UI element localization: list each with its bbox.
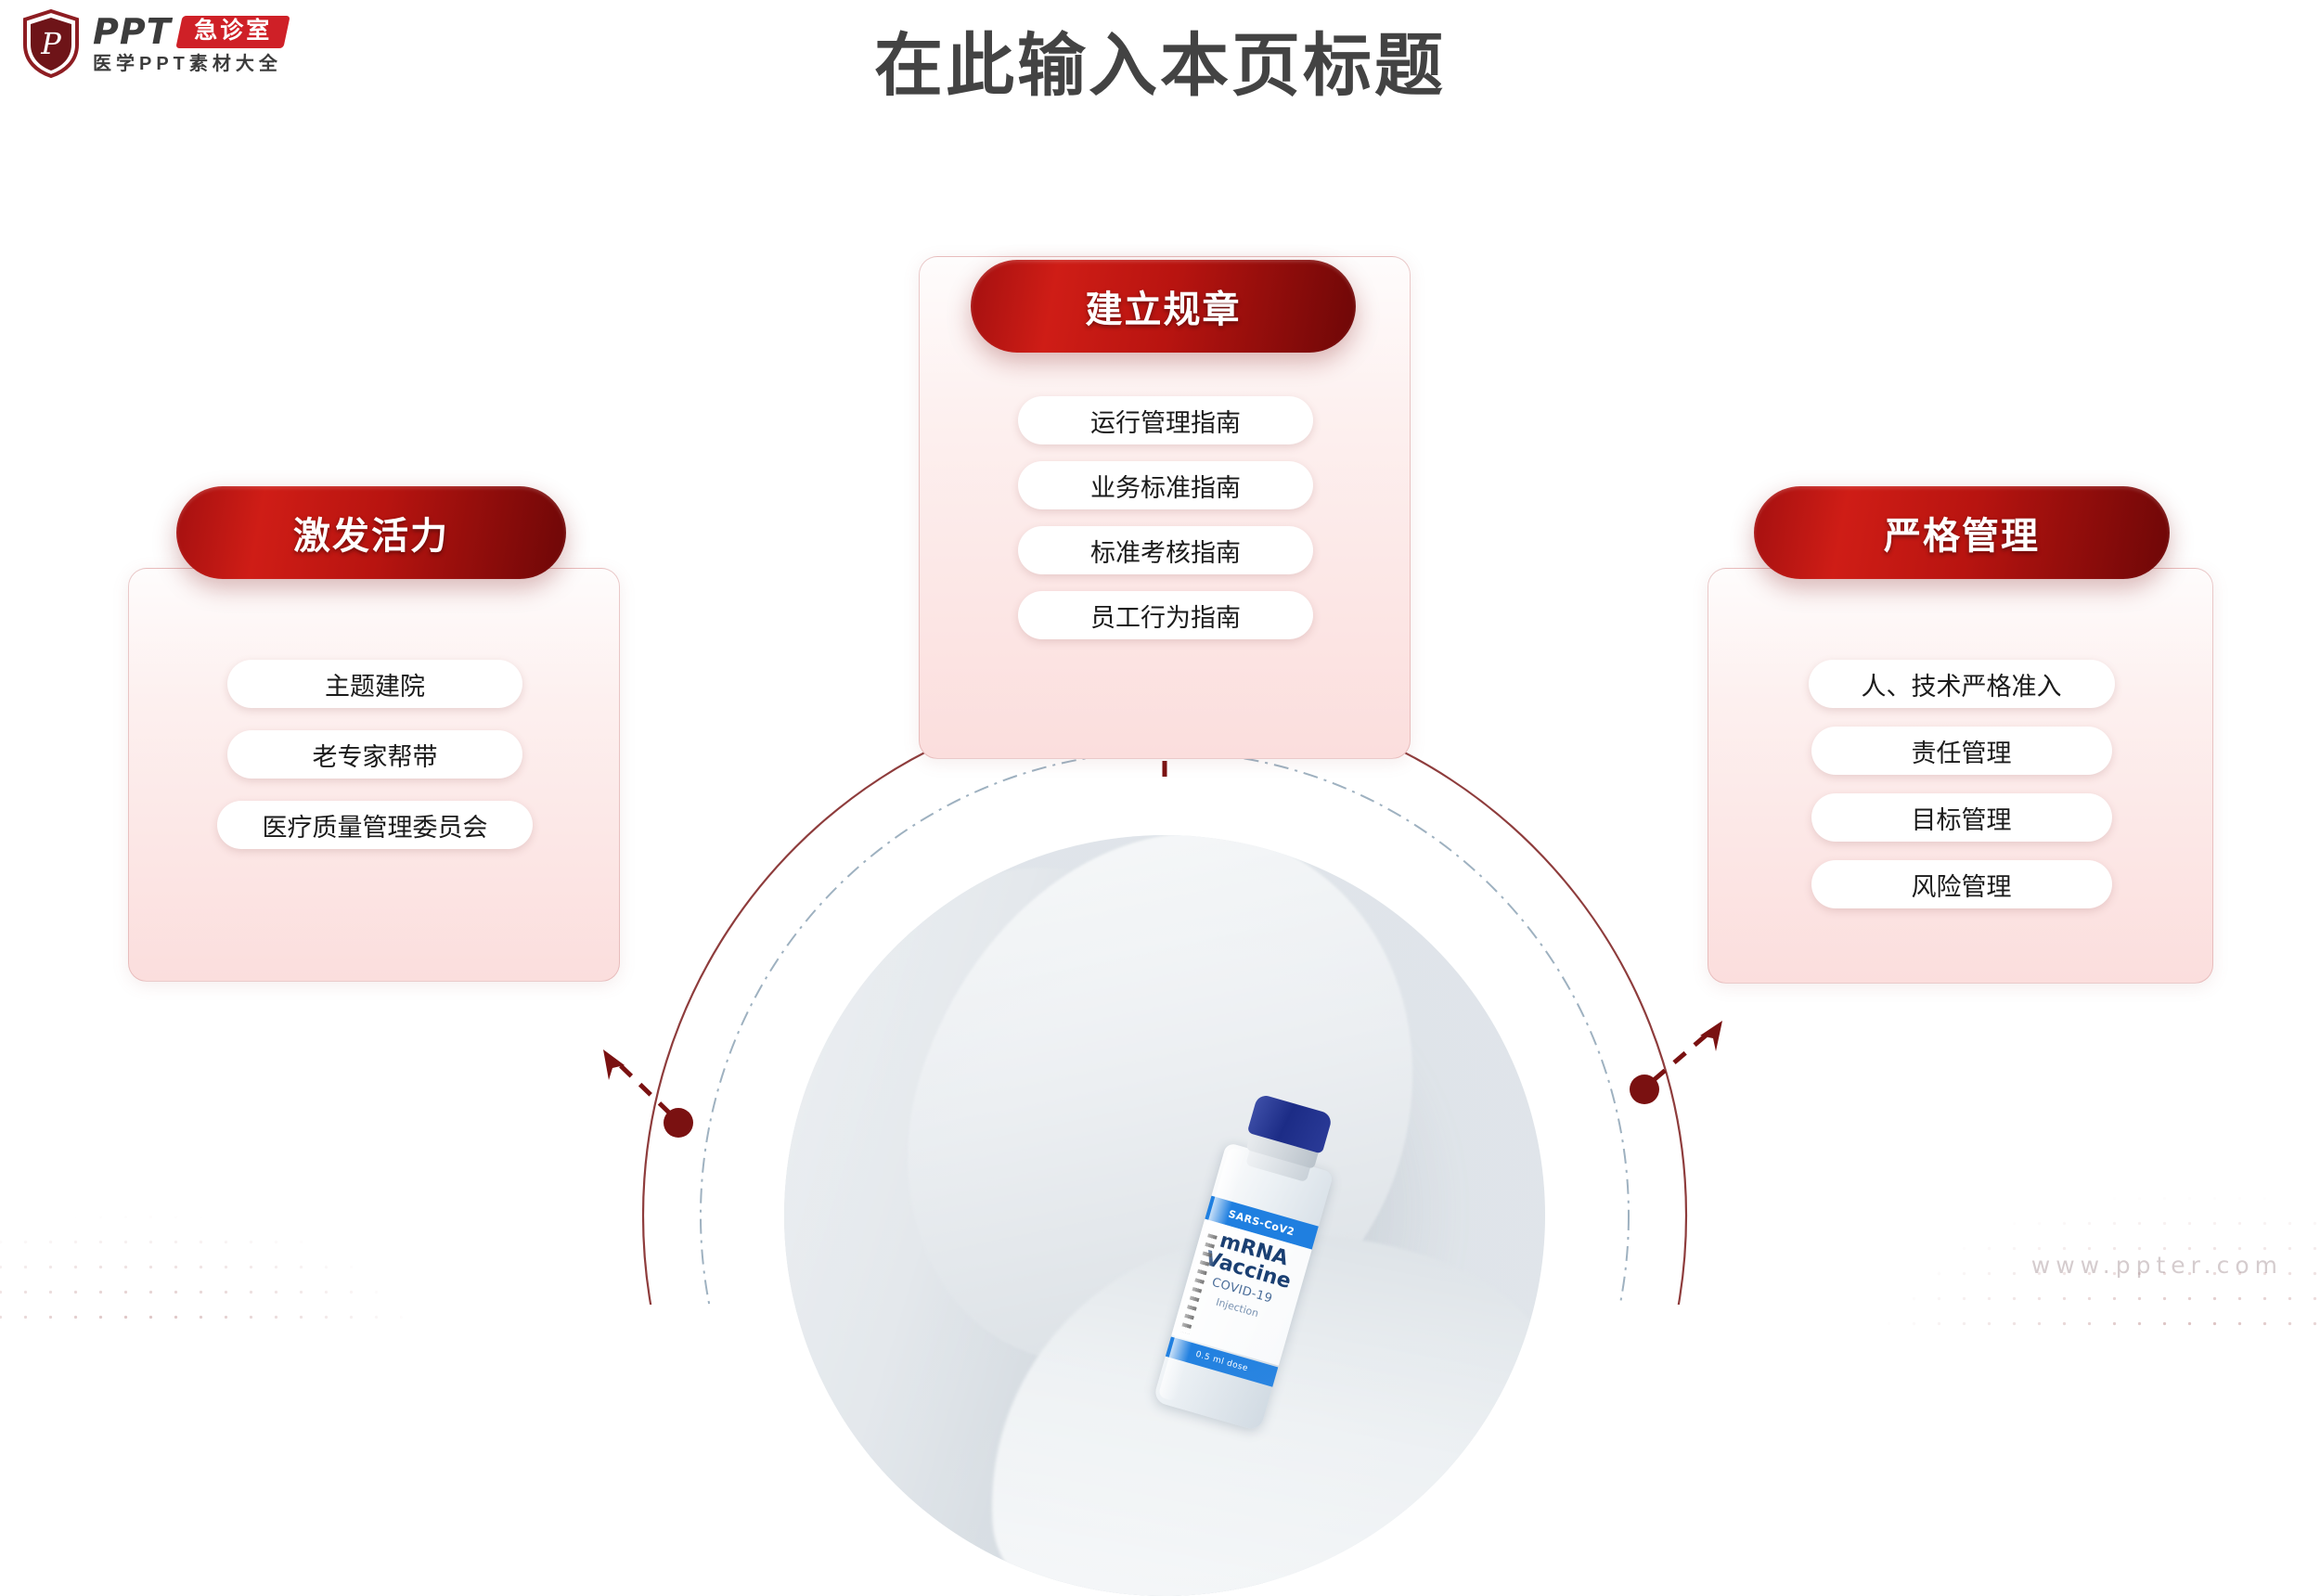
arrow-head-left bbox=[603, 1049, 625, 1080]
photo-vignette bbox=[784, 835, 1545, 1596]
site-watermark: www.ppter.com bbox=[2031, 1252, 2283, 1279]
card-left-items: 主题建院 老专家帮带 医疗质量管理委员会 bbox=[129, 660, 621, 849]
list-item[interactable]: 老专家帮带 bbox=[227, 730, 522, 779]
list-item[interactable]: 人、技术严格准入 bbox=[1809, 660, 2115, 708]
list-item[interactable]: 目标管理 bbox=[1811, 793, 2112, 842]
arrow-head-right bbox=[1700, 1021, 1722, 1051]
list-item[interactable]: 员工行为指南 bbox=[1018, 591, 1313, 639]
node-dot-left bbox=[664, 1108, 693, 1138]
decorative-dot-field-right bbox=[1726, 1036, 2320, 1342]
card-right-items: 人、技术严格准入 责任管理 目标管理 风险管理 bbox=[1708, 660, 2214, 908]
list-item[interactable]: 业务标准指南 bbox=[1018, 461, 1313, 509]
card-right-title[interactable]: 严格管理 bbox=[1754, 486, 2170, 579]
list-item[interactable]: 风险管理 bbox=[1811, 860, 2112, 908]
connector-line-left bbox=[612, 1058, 670, 1113]
vaccine-photo: SARS-CoV2 mRNA Vaccine COVID-19 Injectio… bbox=[784, 835, 1545, 1596]
card-right[interactable]: 人、技术严格准入 责任管理 目标管理 风险管理 bbox=[1708, 568, 2213, 984]
connector-line-right bbox=[1654, 1030, 1712, 1080]
card-center-title[interactable]: 建立规章 bbox=[971, 260, 1356, 353]
card-left-title[interactable]: 激发活力 bbox=[176, 486, 566, 579]
list-item[interactable]: 运行管理指南 bbox=[1018, 396, 1313, 444]
node-dot-right bbox=[1630, 1075, 1659, 1104]
page-title: 在此输入本页标题 bbox=[0, 28, 2320, 103]
list-item[interactable]: 责任管理 bbox=[1811, 727, 2112, 775]
list-item[interactable]: 医疗质量管理委员会 bbox=[217, 801, 533, 849]
list-item[interactable]: 标准考核指南 bbox=[1018, 526, 1313, 574]
card-left[interactable]: 主题建院 老专家帮带 医疗质量管理委员会 bbox=[128, 568, 620, 982]
list-item[interactable]: 主题建院 bbox=[227, 660, 522, 708]
decorative-dot-field-left bbox=[0, 1054, 557, 1332]
card-center-items: 运行管理指南 业务标准指南 标准考核指南 员工行为指南 bbox=[920, 396, 1411, 639]
